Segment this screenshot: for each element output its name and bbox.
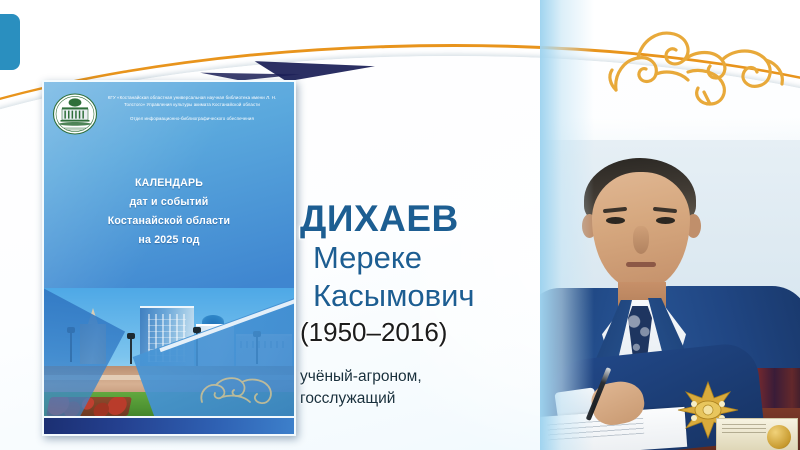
desk-card [716,418,798,450]
cover-title-line-2: дат и событий [44,193,294,212]
library-emblem-icon [52,92,98,136]
slide-canvas: КГУ «Костанайская областная универсальна… [0,0,800,450]
portrait-eye-left [606,217,625,224]
cover-organization-text: КГУ «Костанайская областная универсальна… [98,94,286,108]
left-edge-tab [0,14,20,70]
cover-title-line-4: на 2025 год [44,231,294,250]
cover-title-line-3: Костанайской области [44,212,294,231]
cover-title-block: КАЛЕНДАРЬ дат и событий Костанайской обл… [44,174,294,249]
cover-department-text: Отдел информационно-библиографического о… [98,115,286,122]
kazakh-ornament-icon [194,370,290,416]
portrait-mouth [626,262,656,267]
card-gold-seal-icon [767,425,791,449]
calendar-book-cover: КГУ «Костанайская областная универсальна… [42,80,296,436]
portrait-eye-right [656,217,675,224]
cover-title-line-1: КАЛЕНДАРЬ [44,174,294,193]
occupation-line-2: госслужащий [300,388,550,410]
occupation-line-1: учёный-агроном, [300,366,550,388]
cover-bottom-band [44,416,294,434]
person-occupation: учёный-агроном, госслужащий [300,366,550,410]
cover-header: КГУ «Костанайская областная универсальна… [44,88,294,136]
photo-street-lamp [130,338,132,364]
cover-city-photo [44,288,294,420]
cover-header-text: КГУ «Костанайская областная универсальна… [98,88,286,122]
person-portrait-photo [540,0,800,450]
portrait-nose [633,226,649,254]
portrait-left-fade [540,0,594,450]
